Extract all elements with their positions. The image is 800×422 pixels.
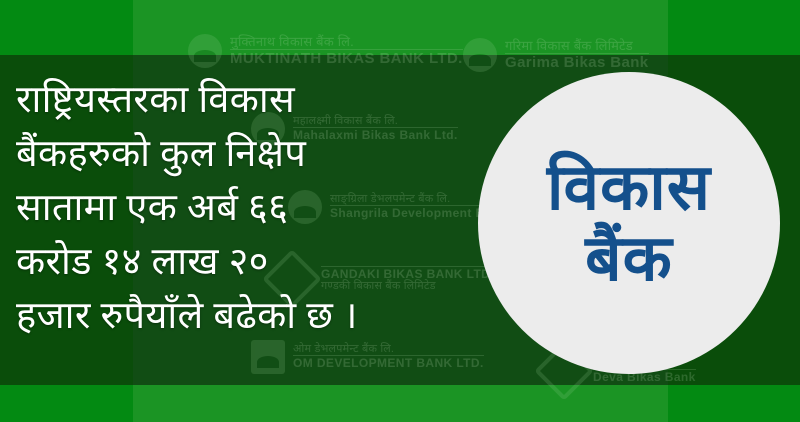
headline-line-1: राष्ट्रियस्तरका विकास xyxy=(16,74,486,128)
vikas-bank-badge: विकास बैंक xyxy=(478,72,780,374)
news-card: मुक्तिनाथ विकास बैंक लि. MUKTINATH BIKAS… xyxy=(0,0,800,422)
badge-line-2: बैंक xyxy=(585,226,673,291)
headline-line-4: करोड १४ लाख २० xyxy=(16,236,486,290)
headline-line-5: हजार रुपैयाँले बढेको छ । xyxy=(16,290,486,344)
headline-line-2: बैंकहरुको कुल निक्षेप xyxy=(16,128,486,182)
headline-line-3: सातामा एक अर्ब ६६ xyxy=(16,182,486,236)
badge-line-1: विकास xyxy=(547,155,711,220)
headline-text: राष्ट्रियस्तरका विकास बैंकहरुको कुल निक्… xyxy=(16,74,486,344)
